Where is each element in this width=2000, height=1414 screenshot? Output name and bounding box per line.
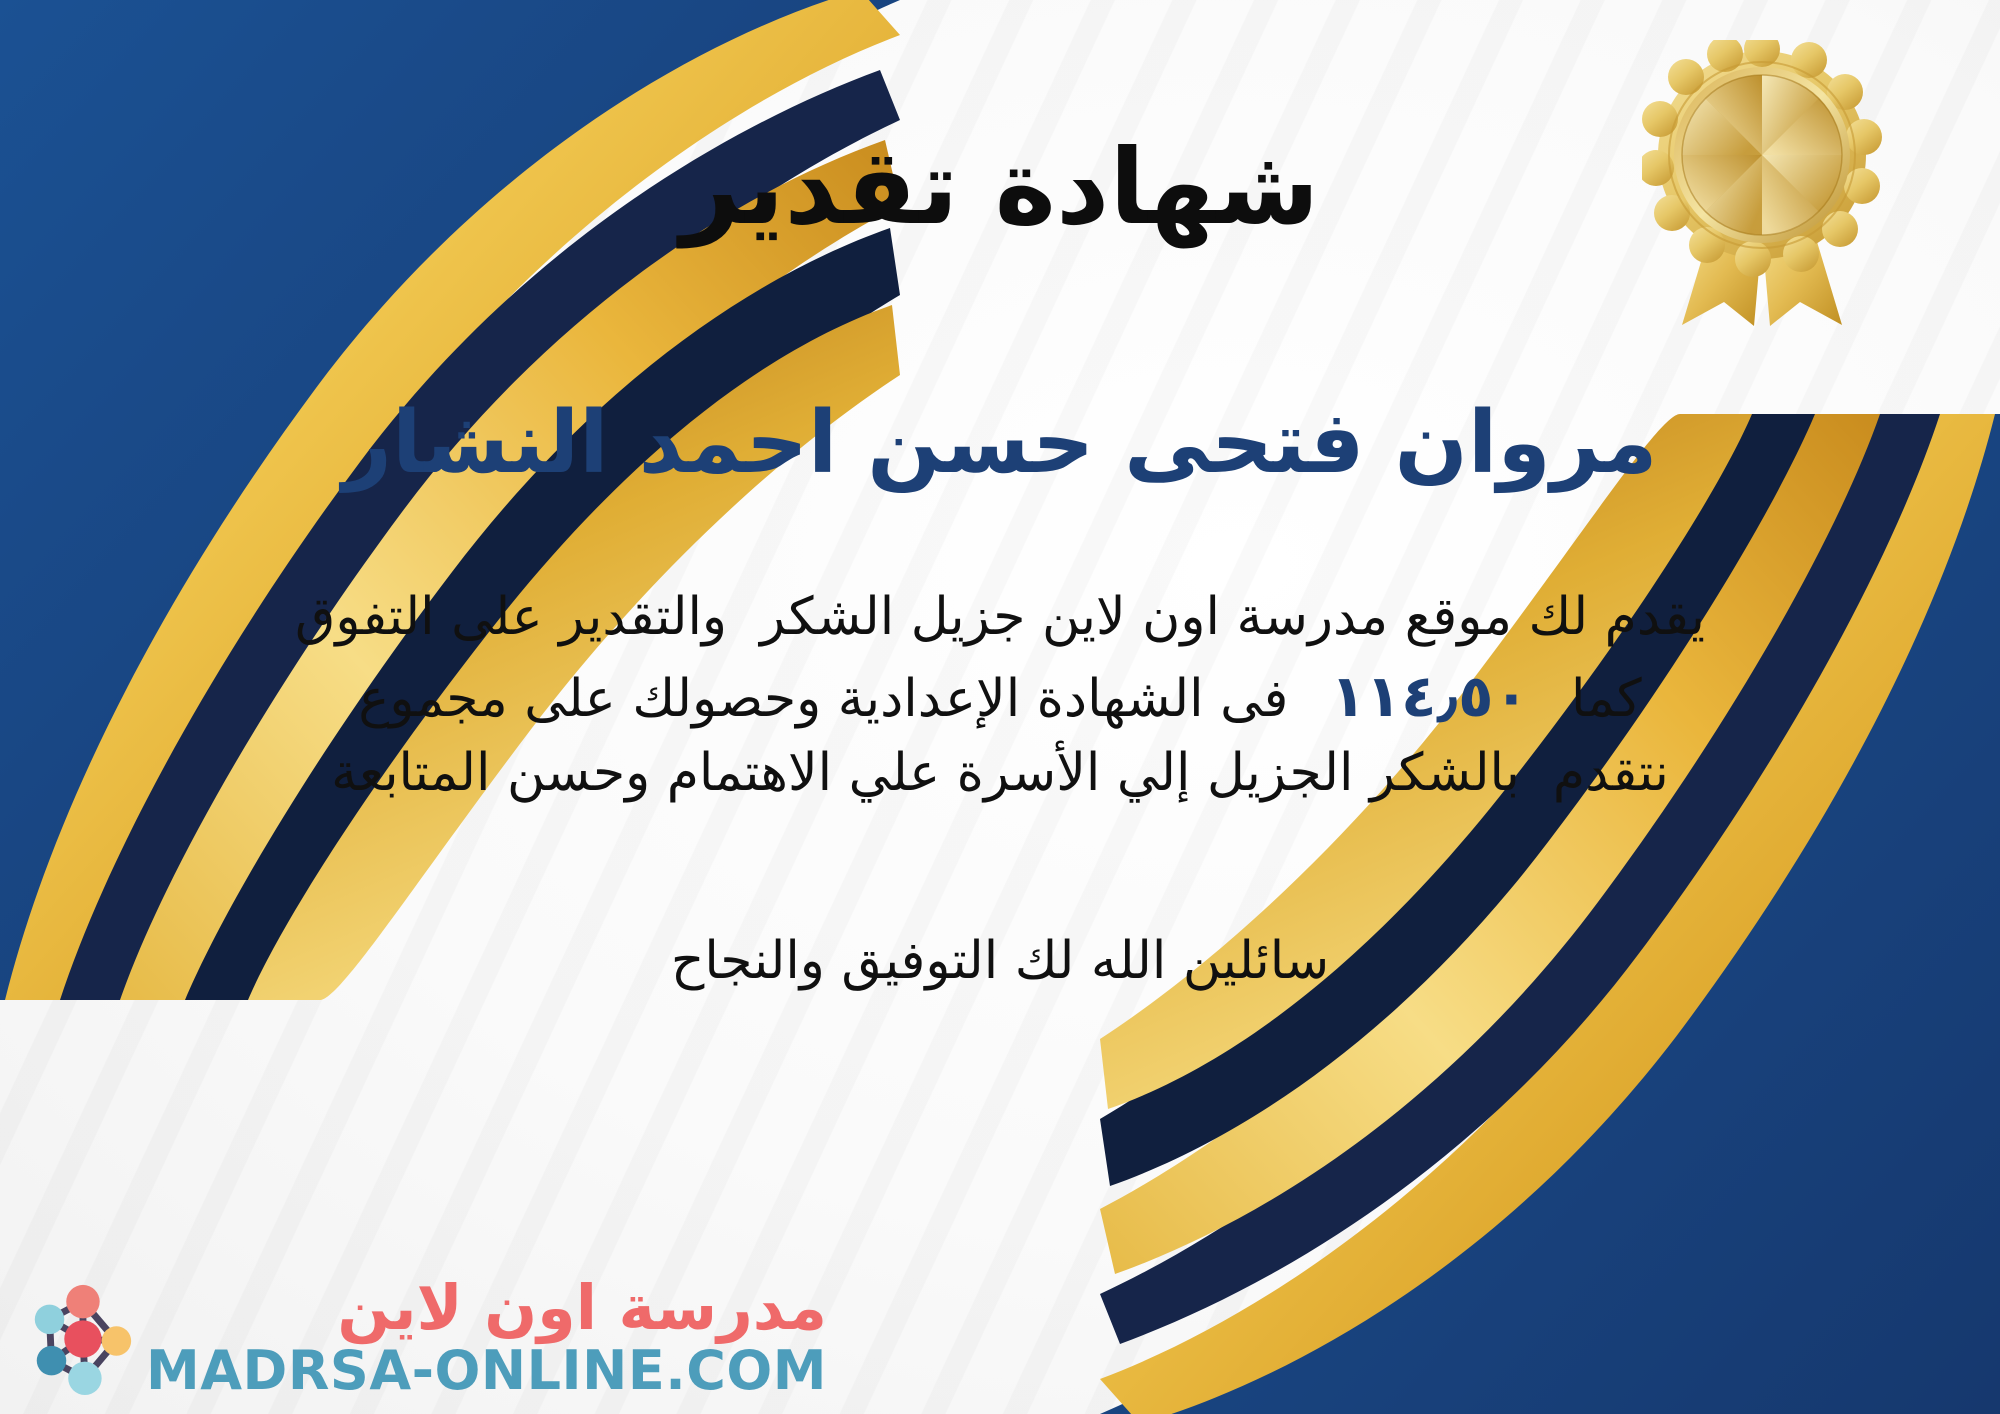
logo-domain: MADRSA-ONLINE.COM bbox=[146, 1343, 827, 1400]
node-bottom bbox=[68, 1361, 101, 1394]
node-lower-left bbox=[37, 1346, 67, 1376]
site-logo[interactable]: مدرسة اون لاين MADRSA-ONLINE.COM bbox=[22, 1277, 827, 1400]
body-line-2: كما ١١٤٫٥٠ فى الشهادة الإعدادية وحصولك ع… bbox=[200, 655, 1800, 737]
student-name: مروان فتحى حسن احمد النشار bbox=[342, 394, 1657, 493]
node-upper-left bbox=[35, 1304, 65, 1334]
certificate-body: يقدم لك موقع مدرسة اون لاين جزيل الشكر و… bbox=[200, 581, 1800, 811]
certificate-canvas: شهادة تقدير مروان فتحى حسن احمد النشار ي… bbox=[0, 0, 2000, 1414]
body-line-3: نتقدم بالشكر الجزيل إلي الأسرة علي الاهت… bbox=[200, 737, 1800, 811]
body-line-2-prefix: فى الشهادة الإعدادية وحصولك على مجموع bbox=[358, 663, 1288, 737]
page-title: شهادة تقدير bbox=[681, 130, 1320, 244]
node-right bbox=[102, 1326, 131, 1356]
certificate-content: شهادة تقدير مروان فتحى حسن احمد النشار ي… bbox=[0, 0, 2000, 1414]
network-nodes-icon bbox=[22, 1280, 140, 1398]
logo-text-group: مدرسة اون لاين MADRSA-ONLINE.COM bbox=[146, 1277, 827, 1400]
node-top bbox=[66, 1285, 99, 1318]
logo-arabic-name: مدرسة اون لاين bbox=[337, 1277, 827, 1339]
body-line-2-suffix: كما bbox=[1571, 663, 1642, 737]
body-line-1: يقدم لك موقع مدرسة اون لاين جزيل الشكر و… bbox=[200, 581, 1800, 655]
node-center bbox=[64, 1320, 101, 1357]
closing-wish-text: سائلين الله لك التوفيق والنجاح bbox=[671, 931, 1329, 991]
total-score-value: ١١٤٫٥٠ bbox=[1330, 655, 1529, 737]
